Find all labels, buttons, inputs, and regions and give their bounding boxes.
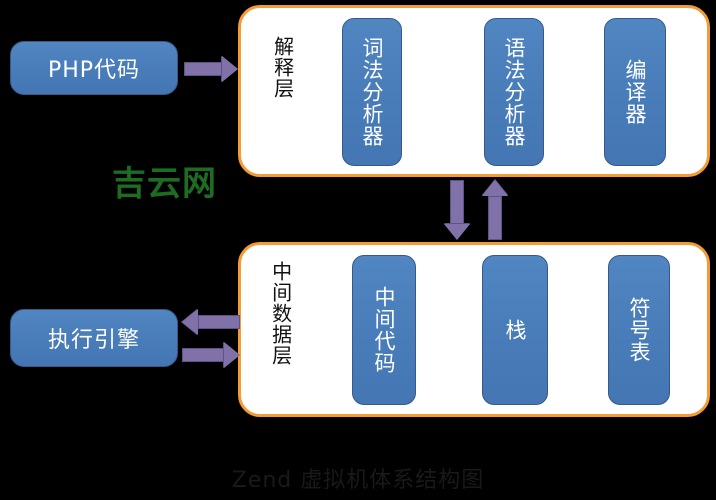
- arrow-interpret-layer-to-data-layer: [444, 180, 470, 240]
- diagram-canvas: PHP代码 解释层 词法分析器 语法分析器 编译器 中间数据层 中间代码 栈 符…: [0, 0, 716, 500]
- arrow-data-layer-to-interpret-layer: [482, 180, 508, 240]
- arrow-execution-engine-to-data-layer: [182, 342, 240, 368]
- box-stack: 栈: [482, 255, 548, 405]
- arrow-head: [182, 309, 198, 335]
- arrow-head: [482, 180, 508, 196]
- box-execution-engine: 执行引擎: [10, 309, 178, 367]
- arrow-head: [222, 56, 238, 82]
- diagram-caption: Zend 虚拟机体系结构图: [0, 462, 716, 494]
- arrow-shaft: [198, 315, 240, 329]
- box-lexical-analyzer: 词法分析器: [342, 18, 402, 166]
- watermark-text: 吉云网: [112, 156, 217, 205]
- arrow-shaft: [488, 196, 502, 240]
- box-syntax-analyzer: 语法分析器: [484, 18, 544, 166]
- arrow-shaft: [450, 180, 464, 224]
- panel-label-intermediate-data-layer: 中间数据层: [269, 261, 291, 366]
- arrow-php-code-to-interpret-layer: [184, 56, 238, 82]
- panel-label-interpret-layer: 解释层: [271, 36, 293, 99]
- arrow-data-layer-to-execution-engine: [182, 309, 240, 335]
- box-compiler: 编译器: [604, 18, 666, 166]
- arrow-head: [224, 342, 240, 368]
- arrow-shaft: [184, 62, 222, 76]
- arrow-head: [444, 224, 470, 240]
- box-php-code: PHP代码: [10, 41, 178, 95]
- box-intermediate-code: 中间代码: [352, 255, 416, 405]
- arrow-shaft: [182, 348, 224, 362]
- box-symbol-table: 符号表: [608, 255, 670, 405]
